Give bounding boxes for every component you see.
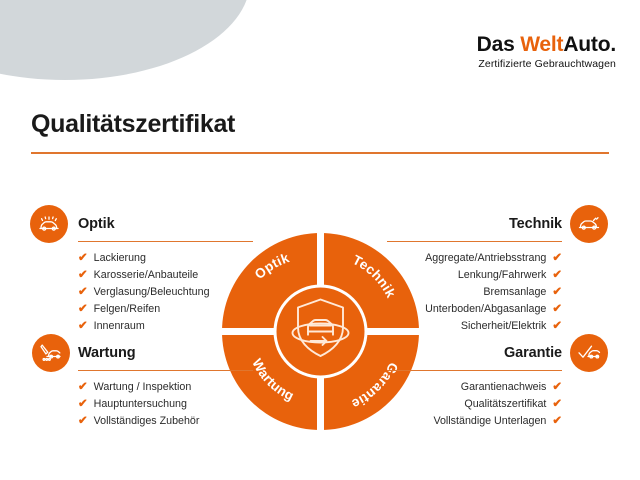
list-item-label: Karosserie/Anbauteile <box>94 267 199 284</box>
list-item: Unterboden/Abgasanlage✔ <box>387 301 562 318</box>
section-technik: Technik Aggregate/Antriebsstrang✔ Lenkun… <box>387 212 562 335</box>
list-item: ✔Karosserie/Anbauteile <box>78 267 253 284</box>
list-item: ✔Lackierung <box>78 250 253 267</box>
list-item-label: Vollständige Unterlagen <box>433 413 546 430</box>
list-item-label: Aggregate/Antriebsstrang <box>425 250 546 267</box>
list-item: Bremsanlage✔ <box>387 284 562 301</box>
list-item: ✔Felgen/Reifen <box>78 301 253 318</box>
list-item-label: Qualitätszertifikat <box>464 396 546 413</box>
list-item-label: Lenkung/Fahrwerk <box>458 267 547 284</box>
section-technik-divider <box>387 241 562 242</box>
check-icon: ✔ <box>78 253 88 265</box>
check-icon: ✔ <box>78 270 88 282</box>
section-garantie-items: Garantienachweis✔ Qualitätszertifikat✔ V… <box>387 379 562 430</box>
check-icon: ✔ <box>552 399 562 411</box>
list-item-label: Vollständiges Zubehör <box>94 413 200 430</box>
list-item-label: Bremsanlage <box>483 284 546 301</box>
list-item-label: Innenraum <box>94 318 145 335</box>
check-icon: ✔ <box>78 287 88 299</box>
check-icon: ✔ <box>552 287 562 299</box>
check-icon: ✔ <box>78 382 88 394</box>
check-icon: ✔ <box>552 321 562 333</box>
list-item: ✔Innenraum <box>78 318 253 335</box>
logo-welt: Welt <box>520 33 563 56</box>
list-item: Lenkung/Fahrwerk✔ <box>387 267 562 284</box>
logo-auto: Auto. <box>563 33 616 56</box>
section-optik-head: Optik <box>78 212 253 236</box>
car-technik-icon <box>570 205 608 243</box>
section-technik-head: Technik <box>387 212 562 236</box>
section-wartung-title: Wartung <box>78 345 136 361</box>
section-optik-items: ✔Lackierung ✔Karosserie/Anbauteile ✔Verg… <box>78 250 253 335</box>
section-technik-items: Aggregate/Antriebsstrang✔ Lenkung/Fahrwe… <box>387 250 562 335</box>
section-garantie: Garantie Garantienachweis✔ Qualitätszert… <box>387 341 562 430</box>
check-icon: ✔ <box>552 382 562 394</box>
list-item-label: Hauptuntersuchung <box>94 396 187 413</box>
section-optik: Optik ✔Lackierung ✔Karosserie/Anbauteile… <box>78 212 253 335</box>
section-garantie-head: Garantie <box>387 341 562 365</box>
check-icon: ✔ <box>552 416 562 428</box>
page-title: Qualitätszertifikat <box>31 110 235 139</box>
car-wrench-icon <box>32 334 70 372</box>
brand-logo: Das WeltAuto. Zertifizierte Gebrauchtwag… <box>477 34 616 70</box>
check-icon: ✔ <box>78 321 88 333</box>
car-shine-icon <box>30 205 68 243</box>
list-item: ✔Hauptuntersuchung <box>78 396 253 413</box>
decorative-grey-blob <box>0 0 250 80</box>
list-item: Aggregate/Antriebsstrang✔ <box>387 250 562 267</box>
list-item: Garantienachweis✔ <box>387 379 562 396</box>
list-item-label: Wartung / Inspektion <box>94 379 192 396</box>
certificate-page: Das WeltAuto. Zertifizierte Gebrauchtwag… <box>0 0 640 480</box>
list-item: Sicherheit/Elektrik✔ <box>387 318 562 335</box>
logo-das: Das <box>477 33 521 56</box>
logo-subtitle: Zertifizierte Gebrauchtwagen <box>477 58 616 70</box>
section-optik-divider <box>78 241 253 242</box>
section-wartung: Wartung ✔Wartung / Inspektion ✔Hauptunte… <box>78 341 253 430</box>
check-icon: ✔ <box>552 304 562 316</box>
list-item-label: Sicherheit/Elektrik <box>461 318 547 335</box>
list-item: ✔Wartung / Inspektion <box>78 379 253 396</box>
section-wartung-items: ✔Wartung / Inspektion ✔Hauptuntersuchung… <box>78 379 253 430</box>
list-item-label: Lackierung <box>94 250 146 267</box>
section-technik-title: Technik <box>509 216 562 232</box>
section-wartung-head: Wartung <box>78 341 253 365</box>
list-item: Vollständige Unterlagen✔ <box>387 413 562 430</box>
logo-wordmark: Das WeltAuto. <box>477 34 616 56</box>
list-item-label: Unterboden/Abgasanlage <box>425 301 546 318</box>
section-optik-title: Optik <box>78 216 115 232</box>
list-item-label: Garantienachweis <box>461 379 547 396</box>
title-divider <box>31 152 609 154</box>
section-garantie-title: Garantie <box>504 345 562 361</box>
section-garantie-divider <box>387 370 562 371</box>
list-item: Qualitätszertifikat✔ <box>387 396 562 413</box>
check-icon: ✔ <box>552 270 562 282</box>
list-item: ✔Vollständiges Zubehör <box>78 413 253 430</box>
list-item-label: Verglasung/Beleuchtung <box>94 284 210 301</box>
list-item: ✔Verglasung/Beleuchtung <box>78 284 253 301</box>
check-icon: ✔ <box>552 253 562 265</box>
check-icon: ✔ <box>78 304 88 316</box>
section-wartung-divider <box>78 370 253 371</box>
check-icon: ✔ <box>78 416 88 428</box>
list-item-label: Felgen/Reifen <box>94 301 161 318</box>
car-check-icon <box>570 334 608 372</box>
check-icon: ✔ <box>78 399 88 411</box>
